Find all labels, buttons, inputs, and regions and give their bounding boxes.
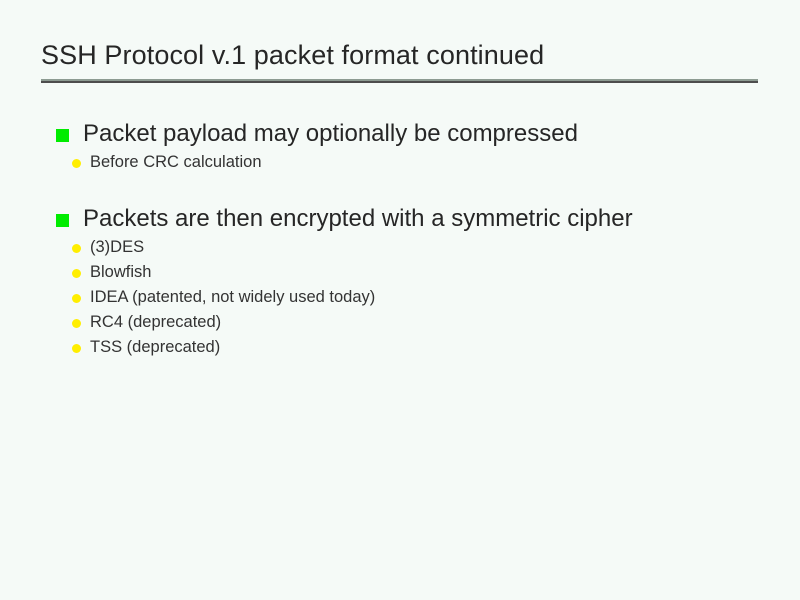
list-item-level2-label: (3)DES [90, 235, 800, 260]
list-item-level2: (3)DES [0, 235, 800, 260]
round-bullet-icon [72, 244, 81, 253]
list-item-level2: Blowfish [0, 260, 800, 285]
round-bullet-icon [72, 269, 81, 278]
title-divider [41, 79, 758, 83]
list-item-level2: RC4 (deprecated) [0, 310, 800, 335]
square-bullet-icon [56, 214, 69, 227]
title-divider-shadow [41, 81, 758, 83]
list-item-level1-label: Packets are then encrypted with a symmet… [83, 203, 800, 234]
list-item-level2-label: TSS (deprecated) [90, 335, 800, 360]
bullet-group: Packet payload may optionally be compres… [0, 118, 800, 175]
slide-body: Packet payload may optionally be compres… [0, 118, 800, 360]
slide-title-block: SSH Protocol v.1 packet format continued [41, 38, 759, 72]
list-item-level2: TSS (deprecated) [0, 335, 800, 360]
round-bullet-icon [72, 294, 81, 303]
list-item-level2-label: RC4 (deprecated) [90, 310, 800, 335]
slide: SSH Protocol v.1 packet format continued… [0, 0, 800, 600]
list-item-level2-label: Blowfish [90, 260, 800, 285]
list-item-level1: Packets are then encrypted with a symmet… [0, 203, 800, 234]
square-bullet-icon [56, 129, 69, 142]
list-item-level2-label: Before CRC calculation [90, 150, 800, 175]
list-item-level2-label: IDEA (patented, not widely used today) [90, 285, 800, 310]
list-item-level2: IDEA (patented, not widely used today) [0, 285, 800, 310]
page-title: SSH Protocol v.1 packet format continued [41, 38, 759, 72]
list-item-level2: Before CRC calculation [0, 150, 800, 175]
round-bullet-icon [72, 344, 81, 353]
round-bullet-icon [72, 319, 81, 328]
group-spacer [0, 175, 800, 203]
round-bullet-icon [72, 159, 81, 168]
list-item-level1-label: Packet payload may optionally be compres… [83, 118, 800, 149]
bullet-group: Packets are then encrypted with a symmet… [0, 203, 800, 360]
list-item-level1: Packet payload may optionally be compres… [0, 118, 800, 149]
